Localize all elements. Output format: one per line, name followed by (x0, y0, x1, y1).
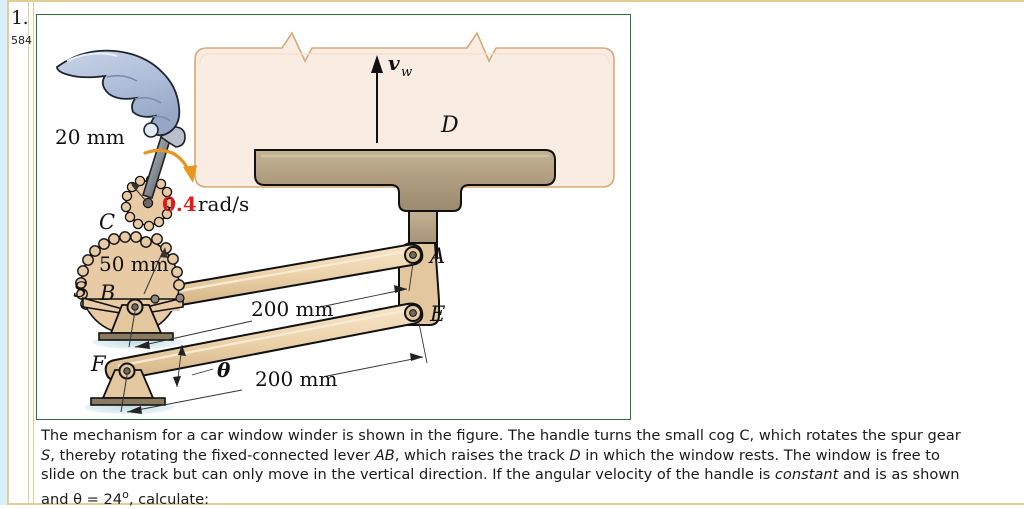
degree-symbol: o (122, 488, 129, 501)
problem-line-2-f: in which the window rests. The window is… (581, 447, 940, 464)
problem-line-2: S, thereby rotating the fixed-connected … (41, 446, 1024, 466)
var-s: S (41, 447, 50, 464)
label-theta: θ (217, 358, 231, 382)
label-gear-s: S (73, 278, 87, 302)
label-pivot-f: F (90, 352, 107, 376)
mechanism-diagram: v w D (37, 15, 629, 418)
column-divider (33, 2, 34, 503)
label-cog-c: C (99, 210, 115, 234)
problem-line-1: The mechanism for a car window winder is… (41, 426, 1024, 446)
problem-content: v w D (36, 2, 1022, 503)
label-window-d: D (440, 113, 459, 138)
track-rail (255, 150, 555, 258)
label-dim-upper-200mm: 200 mm (251, 297, 333, 321)
gear-bolt (176, 294, 184, 302)
problem-line-4-a: and θ = 24 (41, 491, 122, 508)
problem-page: 1. 584 (0, 0, 1024, 505)
label-dim-50mm: 50 mm (99, 252, 169, 276)
textbook-page-number: 584 (11, 34, 32, 47)
label-velocity-w-subscript: w (401, 65, 412, 80)
label-omega-units: rad/s (198, 192, 249, 216)
pin-joint-e (405, 305, 421, 321)
label-joint-a: A (428, 244, 445, 268)
emph-constant: constant (775, 466, 838, 483)
problem-line-3-a: slide on the track but can only move in … (41, 466, 775, 483)
mechanism-figure: v w D (36, 14, 631, 420)
problem-line-3: slide on the track but can only move in … (41, 465, 1024, 485)
label-pivot-b: B (99, 281, 115, 305)
problem-line-2-d: , which raises the track (395, 447, 570, 464)
page-gutter (0, 0, 7, 505)
label-dim-20mm: 20 mm (55, 125, 125, 149)
problem-line-3-c: and is as shown (838, 466, 959, 483)
pin-joint-a (405, 247, 421, 263)
question-number: 1. (11, 7, 28, 29)
question-number-column: 1. 584 (9, 2, 29, 503)
problem-line-2-b: , thereby rotating the fixed-connected l… (50, 447, 374, 464)
var-d: D (569, 447, 580, 464)
problem-line-4-b: , calculate: (129, 491, 209, 508)
label-velocity-w: v (388, 51, 400, 75)
label-omega-value: 0.4 (162, 192, 197, 216)
label-dim-lower-200mm: 200 mm (255, 367, 337, 391)
label-joint-e: E (429, 302, 445, 326)
problem-statement: The mechanism for a car window winder is… (41, 426, 1024, 509)
gear-bolt (151, 295, 159, 303)
var-ab: AB (375, 447, 395, 464)
problem-line-4: and θ = 24o, calculate: (41, 485, 1024, 509)
